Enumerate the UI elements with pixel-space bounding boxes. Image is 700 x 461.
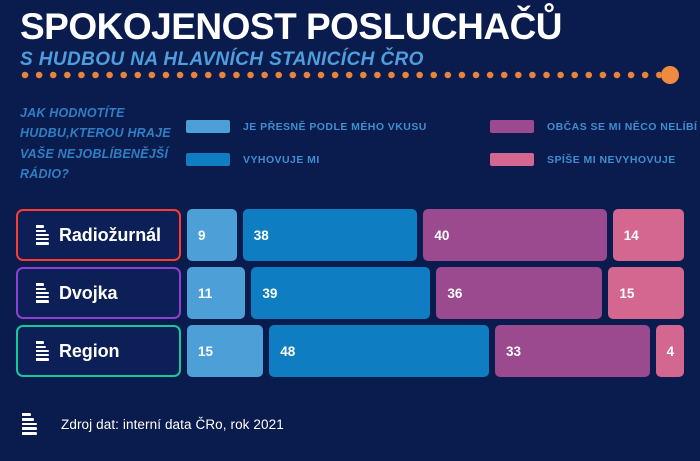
legend-item-1: OBČAS SE MI NĚCO NELÍBÍ [490,110,697,143]
legend-swatch-icon-0 [186,120,230,133]
bar-segment-value: 11 [198,286,212,301]
cro-logo-icon [36,341,49,360]
footer: Zdroj dat: interní data ČRo, rok 2021 [22,413,284,435]
bar-segment[interactable]: 38 [243,209,418,261]
legend-item-3: SPÍŠE MI NEVYHOVUJE [490,143,697,176]
station-name: Radiožurnál [59,225,161,246]
bar-segment[interactable]: 40 [423,209,606,261]
stacked-bar: 1548334 [187,325,684,377]
legend-label-2: VYHOVUJE MI [243,154,320,166]
legend-swatch-icon-3 [490,153,534,166]
legend-swatch-icon-2 [186,153,230,166]
bar-segment[interactable]: 36 [436,267,602,319]
legend-label-3: SPÍŠE MI NEVYHOVUJE [547,154,676,166]
cro-logo-icon [36,225,49,244]
dotted-divider [21,66,679,84]
bar-segment[interactable]: 15 [187,325,263,377]
legend-item-2: VYHOVUJE MI [186,143,490,176]
station-name: Region [59,341,119,362]
legend-label-1: OBČAS SE MI NĚCO NELÍBÍ [547,121,697,133]
cro-logo-icon [36,283,49,302]
bar-segment-value: 40 [434,228,449,243]
bar-segment-value: 48 [280,344,295,359]
infographic-root: SPOKOJENOST POSLUCHAČŮ S HUDBOU NA HLAVN… [0,0,700,461]
station-label-dvojka[interactable]: Dvojka [16,267,181,319]
legend-label-0: JE PŘESNĚ PODLE MÉHO VKUSU [243,121,427,133]
stacked-bar: 11393615 [187,267,684,319]
survey-question: JAK HODNOTÍTE HUDBU,KTEROU HRAJE VAŠE NE… [20,103,180,184]
legend-item-0: JE PŘESNĚ PODLE MÉHO VKUSU [186,110,490,143]
station-name: Dvojka [59,283,117,304]
chart-row: Region1548334 [16,325,684,377]
bar-segment[interactable]: 48 [269,325,489,377]
bar-segment-value: 33 [506,344,521,359]
bar-segment-value: 38 [254,228,269,243]
bar-segment-value: 9 [198,228,206,243]
header: SPOKOJENOST POSLUCHAČŮ S HUDBOU NA HLAVN… [20,8,680,71]
cro-logo-icon [22,413,37,435]
chart-row: Radiožurnál9384014 [16,209,684,261]
legend: JE PŘESNĚ PODLE MÉHO VKUSU OBČAS SE MI N… [186,110,686,176]
station-label-radiožurnál[interactable]: Radiožurnál [16,209,181,261]
bar-segment-value: 4 [667,344,675,359]
bar-segment-value: 15 [198,344,213,359]
page-title: SPOKOJENOST POSLUCHAČŮ [20,8,680,46]
bar-segment-value: 14 [624,228,639,243]
bar-segment-value: 36 [447,286,462,301]
bar-segment[interactable]: 11 [187,267,245,319]
bar-segment-value: 39 [262,286,277,301]
divider-end-dot-icon [661,66,679,84]
dotted-line [21,71,661,79]
bar-segment[interactable]: 14 [613,209,684,261]
bar-segment[interactable]: 4 [656,325,684,377]
stacked-bar: 9384014 [187,209,684,261]
legend-swatch-icon-1 [490,120,534,133]
bar-segment-value: 15 [619,286,634,301]
bar-segment[interactable]: 39 [251,267,430,319]
source-text: Zdroj dat: interní data ČRo, rok 2021 [61,417,284,432]
station-label-region[interactable]: Region [16,325,181,377]
chart-row: Dvojka11393615 [16,267,684,319]
bar-segment[interactable]: 15 [608,267,684,319]
chart-rows: Radiožurnál9384014Dvojka11393615Region15… [16,209,684,383]
bar-segment[interactable]: 9 [187,209,237,261]
bar-segment[interactable]: 33 [495,325,650,377]
